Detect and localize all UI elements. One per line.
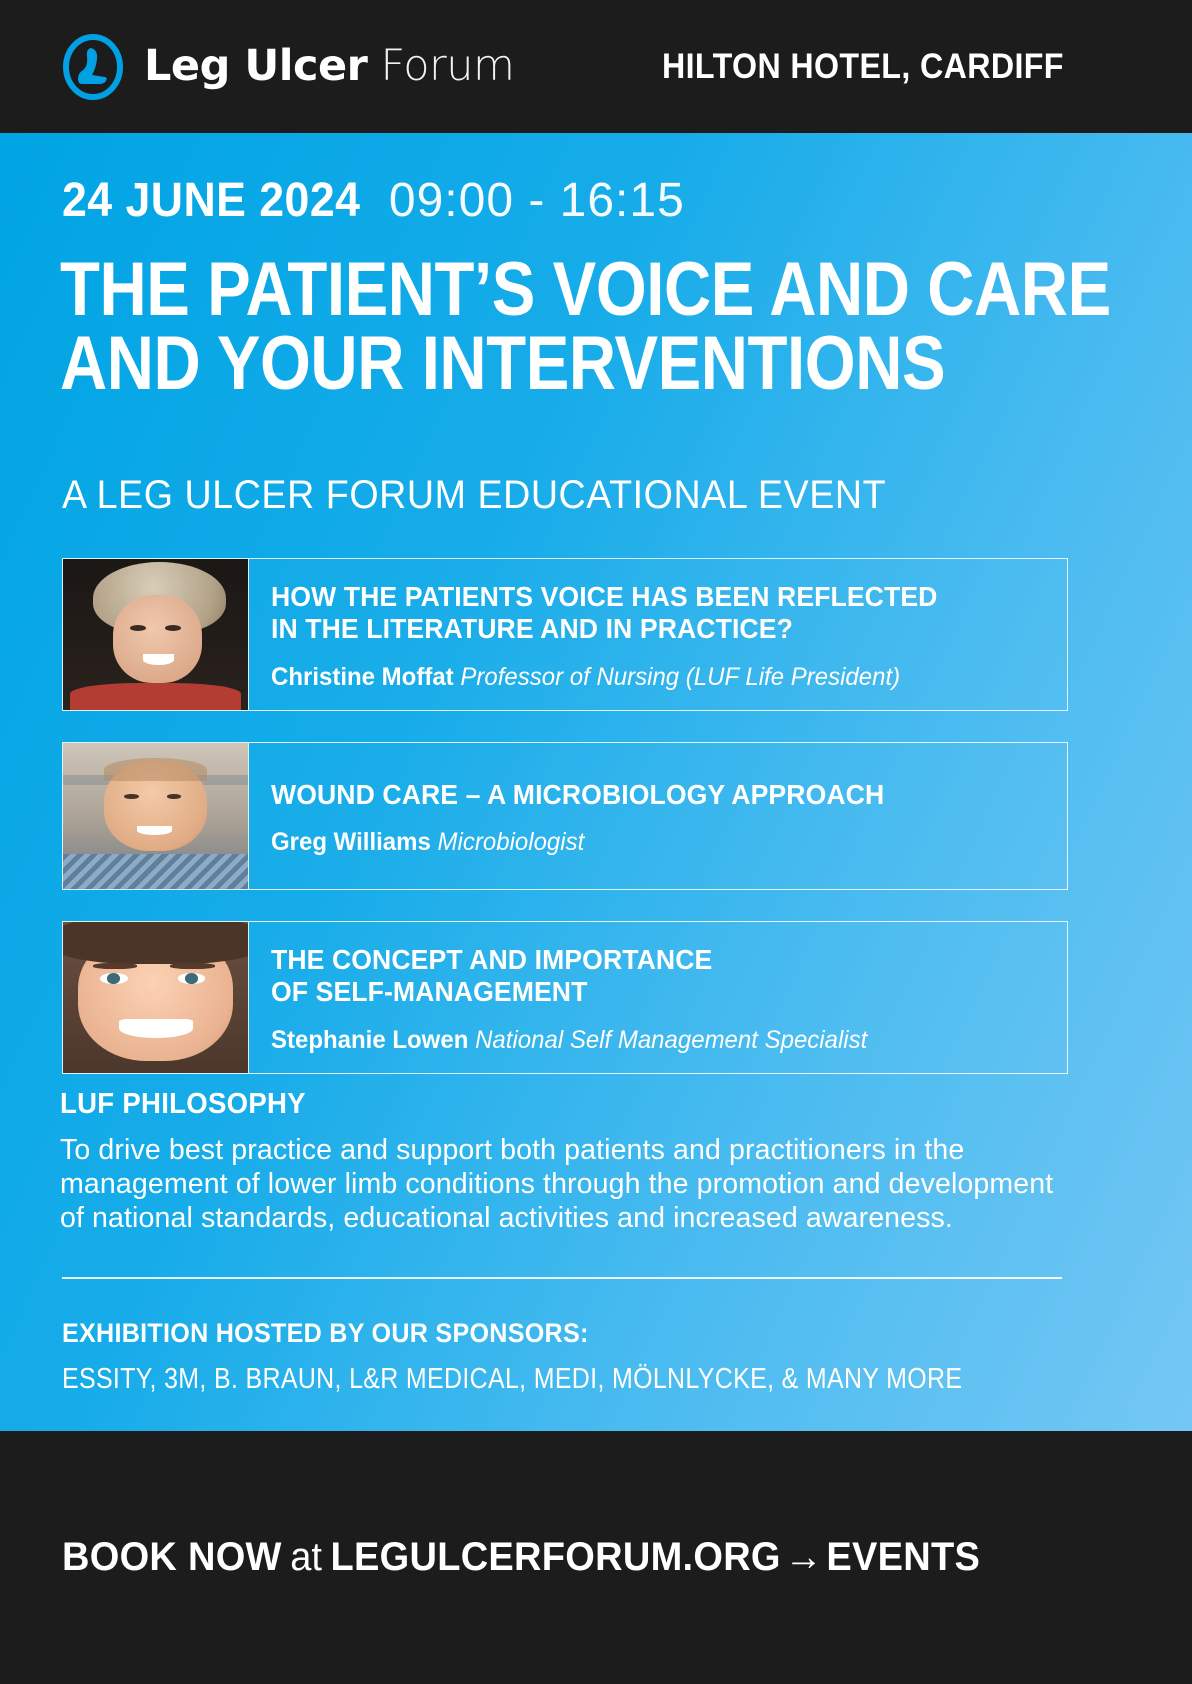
philosophy-text: To drive best practice and support both …	[60, 1134, 1065, 1236]
speaker-photo-greg-williams	[63, 743, 249, 889]
speaker-photo-stephanie-lowen	[63, 922, 249, 1073]
philosophy-heading: LUF PHILOSOPHY	[60, 1088, 1029, 1121]
poster-header: Leg Ulcer Forum HILTON HOTEL, CARDIFF	[0, 0, 1192, 133]
section-divider	[62, 1277, 1062, 1279]
sponsors-section: EXHIBITION HOSTED BY OUR SPONSORS: ESSIT…	[62, 1318, 1082, 1396]
page-title-line-2: AND YOUR INTERVENTIONS	[60, 327, 989, 401]
session-card: THE CONCEPT AND IMPORTANCE OF SELF-MANAG…	[62, 921, 1068, 1074]
booking-cta-connector: at	[290, 1535, 322, 1579]
session-title: THE CONCEPT AND IMPORTANCE OF SELF-MANAG…	[271, 944, 1010, 1009]
session-title: WOUND CARE – A MICROBIOLOGY APPROACH	[271, 779, 1010, 811]
session-speaker: Stephanie LowenNational Self Management …	[271, 1026, 1018, 1055]
session-card: WOUND CARE – A MICROBIOLOGY APPROACH Gre…	[62, 742, 1068, 890]
session-speaker: Christine MoffatProfessor of Nursing (LU…	[271, 663, 1018, 692]
sponsors-heading: EXHIBITION HOSTED BY OUR SPONSORS:	[62, 1318, 1011, 1349]
booking-cta[interactable]: BOOK NOWatLEGULCERFORUM.ORG→EVENTS	[62, 1535, 980, 1580]
poster-footer: BOOK NOWatLEGULCERFORUM.ORG→EVENTS	[0, 1431, 1192, 1684]
session-list: HOW THE PATIENTS VOICE HAS BEEN REFLECTE…	[62, 558, 1068, 1105]
booking-section: EVENTS	[826, 1535, 980, 1579]
speaker-role: Professor of Nursing (LUF Life President…	[460, 663, 900, 691]
booking-url[interactable]: LEGULCERFORUM.ORG	[331, 1535, 781, 1579]
event-date-time: 24 JUNE 202409:00 - 16:15	[62, 177, 685, 225]
session-details: HOW THE PATIENTS VOICE HAS BEEN REFLECTE…	[249, 559, 1067, 710]
speaker-name: Stephanie Lowen	[271, 1026, 468, 1054]
session-card: HOW THE PATIENTS VOICE HAS BEEN REFLECTE…	[62, 558, 1068, 711]
brand-name: Leg Ulcer Forum	[144, 45, 514, 88]
session-title-line-1: WOUND CARE – A MICROBIOLOGY APPROACH	[271, 779, 1010, 811]
arrow-right-icon: →	[785, 1535, 823, 1579]
philosophy-section: LUF PHILOSOPHY To drive best practice an…	[60, 1088, 1080, 1236]
page-title: THE PATIENT’S VOICE AND CARE AND YOUR IN…	[60, 253, 1140, 402]
session-title: HOW THE PATIENTS VOICE HAS BEEN REFLECTE…	[271, 581, 1010, 646]
session-title-line-2: OF SELF-MANAGEMENT	[271, 976, 1010, 1008]
speaker-name: Christine Moffat	[271, 663, 454, 691]
event-date: 24 JUNE 2024	[62, 177, 360, 225]
event-time: 09:00 - 16:15	[389, 174, 685, 227]
sponsors-list: ESSITY, 3M, B. BRAUN, L&R MEDICAL, MEDI,…	[62, 1363, 939, 1396]
brand-name-light: Forum	[381, 41, 515, 91]
brand-lockup: Leg Ulcer Forum	[62, 34, 514, 100]
session-details: THE CONCEPT AND IMPORTANCE OF SELF-MANAG…	[249, 922, 1067, 1073]
leg-ulcer-forum-logo-icon	[62, 34, 124, 100]
speaker-name: Greg Williams	[271, 828, 431, 856]
session-details: WOUND CARE – A MICROBIOLOGY APPROACH Gre…	[249, 743, 1067, 889]
speaker-role: National Self Management Specialist	[475, 1026, 867, 1054]
booking-cta-label: BOOK NOW	[62, 1535, 282, 1579]
page-title-line-1: THE PATIENT’S VOICE AND CARE	[60, 253, 989, 327]
session-speaker: Greg WilliamsMicrobiologist	[271, 828, 1018, 857]
page-subtitle: A LEG ULCER FORUM EDUCATIONAL EVENT	[62, 473, 886, 518]
session-title-line-1: HOW THE PATIENTS VOICE HAS BEEN REFLECTE…	[271, 581, 1010, 613]
event-poster: Leg Ulcer Forum HILTON HOTEL, CARDIFF 24…	[0, 0, 1192, 1684]
session-title-line-2: IN THE LITERATURE AND IN PRACTICE?	[271, 613, 1010, 645]
session-title-line-1: THE CONCEPT AND IMPORTANCE	[271, 944, 1010, 976]
brand-name-bold: Leg Ulcer	[144, 41, 367, 91]
speaker-role: Microbiologist	[438, 828, 585, 856]
venue-label: HILTON HOTEL, CARDIFF	[662, 47, 1064, 87]
speaker-photo-christine-moffat	[63, 559, 249, 710]
poster-main: 24 JUNE 202409:00 - 16:15 THE PATIENT’S …	[0, 133, 1192, 1431]
